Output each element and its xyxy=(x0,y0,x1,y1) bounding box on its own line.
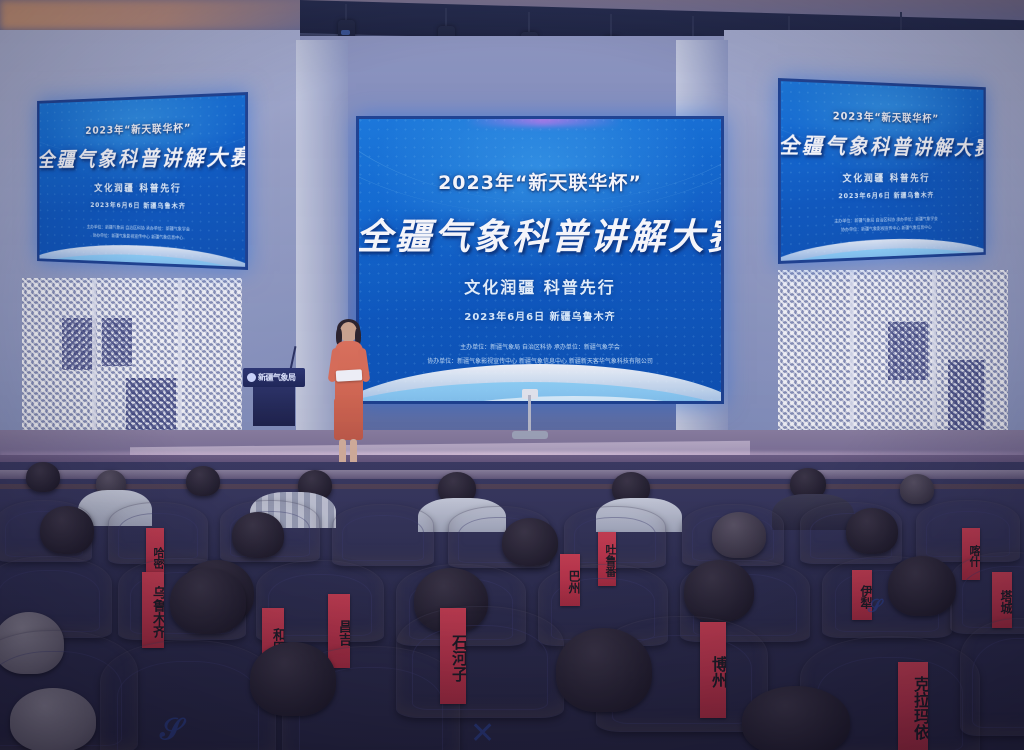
audience-head xyxy=(888,556,956,616)
audience-head xyxy=(170,568,246,634)
screen-title: 全疆气象科普讲解大赛 xyxy=(37,140,248,173)
cue-card xyxy=(336,369,363,381)
screen-top-glow xyxy=(466,116,621,126)
podium: 新疆气象局 xyxy=(243,368,305,426)
decorative-lattice-accent xyxy=(888,322,928,380)
mic-stand-pole xyxy=(528,395,531,433)
audience-head xyxy=(40,506,94,554)
audience-head xyxy=(10,688,96,750)
screen-title: 全疆气象科普讲解大赛 xyxy=(778,128,986,161)
auditorium-seat[interactable] xyxy=(396,606,564,718)
audience-head xyxy=(250,642,336,716)
floor-mic-stand xyxy=(510,395,550,443)
seat-logo-icon: 𝒮 xyxy=(868,596,882,617)
screen-organizer-line-1: 主办单位：新疆气象局 自治区科协 承办单位：新疆气象学会 xyxy=(356,342,724,351)
audience-head xyxy=(186,466,220,496)
auditorium-seat[interactable] xyxy=(960,618,1024,736)
stage-rail-shadow xyxy=(0,484,1024,489)
presenter xyxy=(326,322,372,474)
spotlight-rod xyxy=(528,12,530,34)
screen-slogan: 文化润疆 科普先行 xyxy=(356,274,724,298)
screen-organizer-line-2: 协办单位：新疆气象影视宣传中心 新疆气象信息中心 新疆新天客华气象科技有限公司 xyxy=(356,356,724,365)
seat-logo-icon: ✕ xyxy=(470,716,495,750)
screen-slogan: 文化润疆 科普先行 xyxy=(37,180,248,195)
presenter-skirt xyxy=(334,398,363,440)
ceiling-warm-light xyxy=(0,0,330,30)
decorative-lattice-accent xyxy=(948,360,984,430)
screen-date-location: 2023年6月6日 新疆乌鲁木齐 xyxy=(356,308,724,323)
podium-top: 新疆气象局 xyxy=(243,368,305,387)
right-led-screen[interactable]: 2023年“新天联华杯” 全疆气象科普讲解大赛 文化润疆 科普先行 2023年6… xyxy=(778,78,986,264)
audience-head xyxy=(556,628,652,712)
stage-rail xyxy=(0,470,1024,479)
screen-title: 全疆气象科普讲解大赛 xyxy=(356,208,724,260)
screen-slogan: 文化润疆 科普先行 xyxy=(778,170,986,185)
emblem-icon xyxy=(247,373,256,382)
decorative-lattice-accent xyxy=(102,318,132,366)
audience-head xyxy=(502,518,558,566)
audience-head xyxy=(232,512,284,558)
seat-placard-bozhou: 博州 xyxy=(700,622,726,718)
audience-head xyxy=(26,462,60,492)
conference-hall-photo: 2023年“新天联华杯” 全疆气象科普讲解大赛 文化润疆 科普先行 2023年6… xyxy=(0,0,1024,750)
spotlight-rod xyxy=(445,8,447,28)
screen-sponsor-line: 2023年“新天联华杯” xyxy=(356,168,724,195)
podium-body xyxy=(253,387,295,426)
left-led-screen[interactable]: 2023年“新天联华杯” 全疆气象科普讲解大赛 文化润疆 科普先行 2023年6… xyxy=(37,92,248,270)
seat-logo-icon: 𝒮 xyxy=(160,712,183,747)
seat-placard-shihezi: 石河子 xyxy=(440,608,466,704)
audience-head xyxy=(900,474,934,504)
audience-head xyxy=(684,560,754,622)
main-led-screen[interactable]: 2023年“新天联华杯” 全疆气象科普讲解大赛 文化润疆 科普先行 2023年6… xyxy=(356,116,724,404)
decorative-lattice-accent xyxy=(62,318,96,370)
audience-head xyxy=(846,508,898,554)
audience-head xyxy=(742,686,850,750)
podium-label: 新疆气象局 xyxy=(258,372,302,383)
seat-placard-karamay: 克拉玛依 xyxy=(898,662,928,750)
seat-placard-urumqi: 乌鲁木齐 xyxy=(142,572,164,648)
auditorium-seat[interactable] xyxy=(332,504,434,566)
seat-placard-turpan: 巴州 xyxy=(560,554,580,606)
mic-stand-base xyxy=(512,431,548,439)
audience-head xyxy=(712,512,766,558)
auditorium-seat[interactable] xyxy=(100,640,276,750)
spotlight-rod xyxy=(610,14,612,38)
